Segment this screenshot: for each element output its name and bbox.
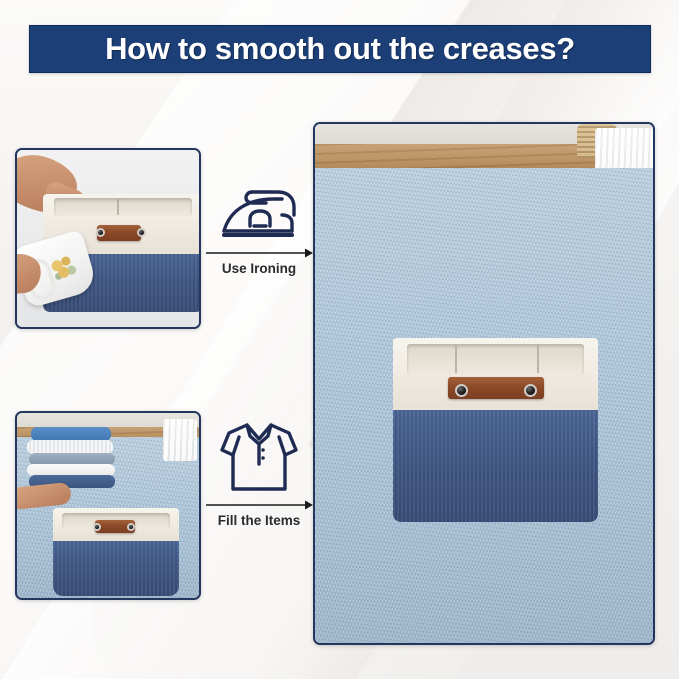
filling-the-basket-photo: [15, 411, 201, 600]
storage-basket: [53, 508, 179, 596]
step-label: Use Ironing: [222, 261, 296, 276]
ironing-the-basket-photo: [15, 148, 201, 329]
step-label: Fill the Items: [218, 513, 301, 528]
step-fill-the-items: Fill the Items: [203, 420, 315, 528]
towel-blue-top: [31, 427, 111, 441]
arrow-right-icon: [206, 246, 313, 258]
tshirt-icon: [217, 420, 301, 494]
arrow-right-icon: [206, 498, 313, 510]
title-banner: How to smooth out the creases?: [29, 25, 651, 73]
handle-grommet-left: [455, 384, 468, 397]
iron-icon: [216, 188, 302, 242]
white-bedskirt: [163, 419, 197, 461]
handle-grommet-left: [96, 228, 105, 237]
towel-white-1: [27, 440, 113, 454]
storage-basket: [393, 338, 598, 522]
step-use-ironing: Use Ironing: [203, 188, 315, 276]
page-title: How to smooth out the creases?: [105, 31, 575, 67]
finished-basket-photo: [313, 122, 655, 645]
infographic-canvas: How to smooth out the creases?: [0, 0, 679, 679]
